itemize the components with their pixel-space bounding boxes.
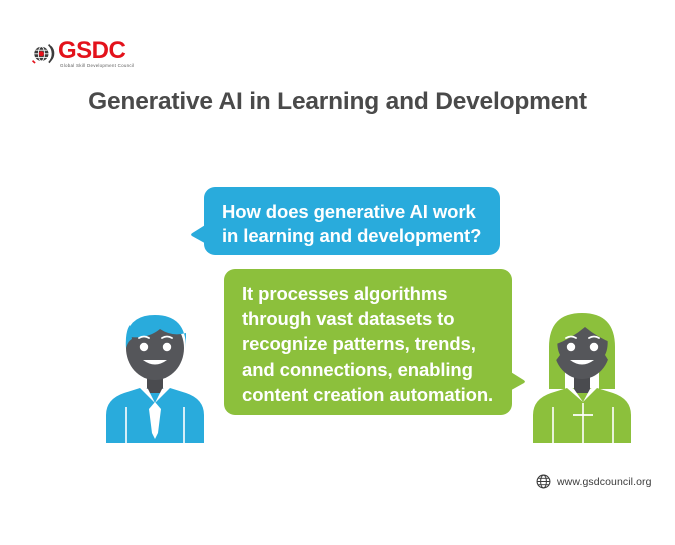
answer-line-1: It processes algorithms [242, 281, 496, 306]
footer-website[interactable]: www.gsdcouncil.org [536, 474, 652, 489]
logo-tagline: Global Skill Development Council [60, 63, 134, 68]
question-line-2: in learning and development? [222, 224, 482, 248]
answer-line-5: content creation automation. [242, 382, 496, 407]
male-person-illustration [100, 303, 210, 443]
globe-icon [536, 474, 551, 489]
answer-line-3: recognize patterns, trends, [242, 331, 496, 356]
globe-icon [30, 41, 56, 67]
speech-bubble-tail-left [190, 222, 210, 246]
question-line-1: How does generative AI work [222, 200, 482, 224]
logo-wordmark: GSDC [58, 38, 125, 64]
answer-line-4: and connections, enabling [242, 357, 496, 382]
female-person-illustration [527, 303, 637, 443]
website-url[interactable]: www.gsdcouncil.org [557, 476, 652, 488]
speech-bubble-tail-right [506, 369, 526, 393]
answer-speech-bubble: It processes algorithms through vast dat… [224, 269, 512, 415]
answer-line-2: through vast datasets to [242, 306, 496, 331]
question-speech-bubble: How does generative AI work in learning … [204, 187, 500, 255]
brand-logo[interactable]: GSDC Global Skill Development Council [30, 38, 175, 72]
page-title: Generative AI in Learning and Developmen… [0, 88, 675, 116]
